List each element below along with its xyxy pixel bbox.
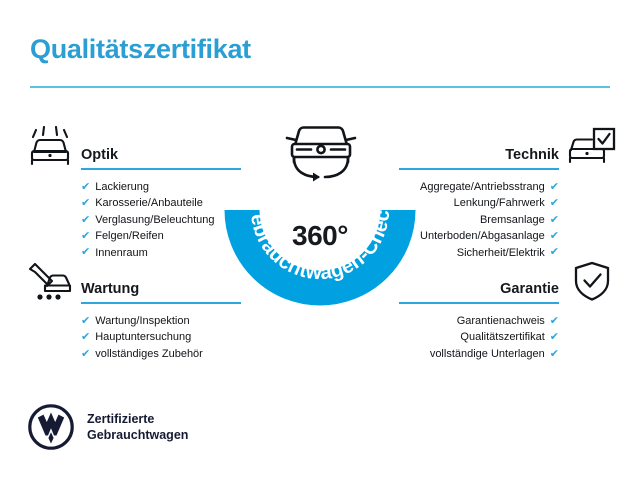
check-icon: ✔ [550,349,559,360]
section-title-optik: Optik [81,147,118,163]
list-item: Garantienachweis ✔ [356,313,559,329]
certificate-page: Qualitätszertifikat [0,0,640,480]
check-icon: ✔ [81,349,90,360]
shiny-car-icon [26,126,74,168]
car-service-wrench-icon [26,260,74,302]
check-icon: ✔ [550,231,559,242]
list-item-label: Verglasung/Beleuchtung [95,212,214,228]
list-item-label: Lackierung [95,179,149,195]
check-icon: ✔ [81,247,90,258]
check-icon: ✔ [550,198,559,209]
list-item-label: Wartung/Inspektion [95,313,189,329]
shield-check-icon [568,260,616,302]
section-title-technik: Technik [505,147,559,163]
check-icon: ✔ [550,316,559,327]
list-item-label: vollständiges Zubehör [95,346,203,362]
checklist-garantie: Garantienachweis ✔ Qualitätszertifikat ✔… [356,306,616,362]
list-item-label: Lenkung/Fahrwerk [454,195,545,211]
section-divider-garantie [399,302,559,304]
check-icon: ✔ [81,332,90,343]
check-icon: ✔ [81,316,90,327]
list-item: ✔ Hauptuntersuchung [81,329,284,345]
section-divider-wartung [81,302,241,304]
badge-360-gebrauchtwagen-check: Gebrauchtwagen-Check 360° [229,119,411,301]
checklist-wartung: ✔ Wartung/Inspektion ✔ Hauptuntersuchung… [24,306,284,362]
list-item-label: Karosserie/Anbauteile [95,195,203,211]
check-icon: ✔ [550,247,559,258]
list-item-label: Bremsanlage [480,212,545,228]
footer-line-1: Zertifizierte [87,411,188,427]
check-icon: ✔ [81,231,90,242]
list-item-label: vollständige Unterlagen [430,346,545,362]
car-rotation-icon [280,114,362,186]
list-item-label: Felgen/Reifen [95,228,164,244]
footer-text: Zertifizierte Gebrauchtwagen [87,411,188,443]
section-divider-optik [81,168,241,170]
list-item: ✔ Wartung/Inspektion [81,313,284,329]
check-icon: ✔ [81,198,90,209]
header-divider [30,86,610,88]
car-checkbox-icon [568,126,616,168]
list-item-label: Innenraum [95,245,148,261]
list-item-label: Sicherheit/Elektrik [457,245,545,261]
section-divider-technik [399,168,559,170]
check-icon: ✔ [81,215,90,226]
volkswagen-logo [28,404,74,450]
check-icon: ✔ [550,182,559,193]
list-item: Qualitätszertifikat ✔ [356,329,559,345]
badge-number: 360° [229,220,411,252]
list-item-label: Unterboden/Abgasanlage [420,228,545,244]
list-item: ✔ vollständiges Zubehör [81,346,284,362]
check-icon: ✔ [81,182,90,193]
check-icon: ✔ [550,215,559,226]
footer-brand: Zertifizierte Gebrauchtwagen [28,404,188,450]
list-item-label: Aggregate/Antriebsstrang [420,179,545,195]
list-item-label: Garantienachweis [457,313,545,329]
list-item-label: Qualitätszertifikat [460,329,544,345]
page-title: Qualitätszertifikat [30,34,251,65]
section-title-garantie: Garantie [500,281,559,297]
section-title-wartung: Wartung [81,281,139,297]
footer-line-2: Gebrauchtwagen [87,427,188,443]
check-icon: ✔ [550,332,559,343]
list-item: vollständige Unterlagen ✔ [356,346,559,362]
list-item-label: Hauptuntersuchung [95,329,191,345]
